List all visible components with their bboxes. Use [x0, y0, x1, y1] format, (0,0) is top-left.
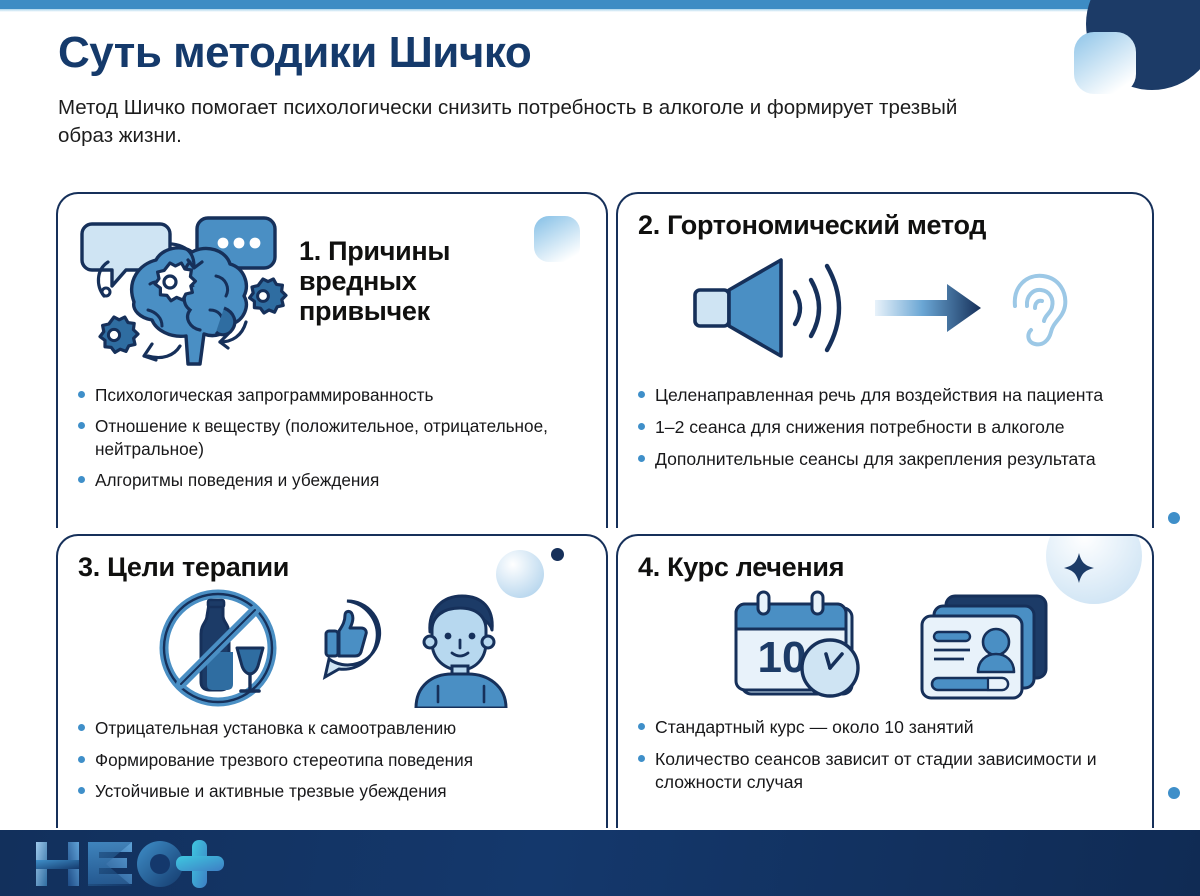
card-gortonomic-method[interactable]: 2. Гортономический метод: [616, 192, 1154, 528]
list-item: Алгоритмы поведения и убеждения: [78, 469, 586, 491]
page-title: Суть методики Шичко: [58, 30, 1058, 76]
list-item: Отношение к веществу (положительное, отр…: [78, 415, 586, 460]
list-item-label: 1–2 сеанса для снижения потребности в ал…: [655, 416, 1065, 439]
list-item-label: Целенаправленная речь для воздействия на…: [655, 384, 1103, 407]
card-therapy-goals[interactable]: 3. Цели терапии: [56, 534, 608, 828]
card-icon-row: [78, 586, 586, 711]
speaker-arrow-ear-icon: [685, 252, 1085, 362]
list-item-label: Количество сеансов зависит от стадии зав…: [655, 748, 1132, 794]
bullet-dot-icon: [78, 787, 85, 794]
list-item: 1–2 сеанса для снижения потребности в ал…: [638, 416, 1132, 439]
list-item-label: Устойчивые и активные трезвые убеждения: [95, 780, 447, 802]
list-item: Целенаправленная речь для воздействия на…: [638, 384, 1132, 407]
list-item-label: Стандартный курс — около 10 занятий: [655, 716, 974, 739]
bullet-dot-icon: [78, 391, 85, 398]
bullet-dot-icon: [638, 755, 645, 762]
id-cards-stack-icon: [916, 586, 1051, 706]
list-item-label: Дополнительные сеансы для закрепления ре…: [655, 448, 1096, 471]
card-bullet-list: Целенаправленная речь для воздействия на…: [638, 384, 1132, 471]
no-alcohol-icon: [151, 586, 286, 711]
card-corner-dot-decoration: [551, 548, 564, 561]
bullet-dot-icon: [78, 724, 85, 731]
top-accent-bar: [0, 0, 1200, 9]
bullet-dot-icon: [78, 476, 85, 483]
list-item-label: Отношение к веществу (положительное, отр…: [95, 415, 586, 460]
card-corner-circle-decoration: [496, 550, 544, 598]
header: Суть методики Шичко Метод Шичко помогает…: [58, 30, 1058, 151]
card-bullet-list: Психологическая запрограммированность От…: [78, 384, 586, 491]
card-icon-row: [638, 252, 1132, 362]
bullet-dot-icon: [78, 756, 85, 763]
list-item-label: Формирование трезвого стереотипа поведен…: [95, 749, 473, 771]
list-item: Отрицательная установка к самоотравлению: [78, 717, 586, 739]
sparkle-icon: [1062, 552, 1096, 586]
top-accent-bar-shadow: [0, 9, 1200, 12]
person-avatar-icon: [408, 590, 513, 708]
thumbs-up-bubble-icon: [312, 595, 382, 703]
list-item-label: Отрицательная установка к самоотравлению: [95, 717, 456, 739]
footer-bar: НЕО+: [0, 830, 1200, 896]
brand-logo: НЕО+: [34, 835, 254, 891]
accent-dot-decoration: [1168, 512, 1180, 524]
list-item-label: Алгоритмы поведения и убеждения: [95, 469, 379, 491]
calendar-day-label: 10: [757, 633, 806, 682]
card-title: 2. Гортономический метод: [638, 210, 1132, 240]
card-title: 1. Причины вредных привычек: [299, 210, 529, 327]
card-corner-square-decoration: [534, 216, 580, 262]
bullet-dot-icon: [638, 423, 645, 430]
list-item: Стандартный курс — около 10 занятий: [638, 716, 1132, 739]
accent-dot-decoration: [1168, 787, 1180, 799]
list-item: Устойчивые и активные трезвые убеждения: [78, 780, 586, 802]
bullet-dot-icon: [78, 422, 85, 429]
card-bullet-list: Стандартный курс — около 10 занятий Коли…: [638, 716, 1132, 794]
list-item: Формирование трезвого стереотипа поведен…: [78, 749, 586, 771]
bullet-dot-icon: [638, 723, 645, 730]
list-item-label: Психологическая запрограммированность: [95, 384, 434, 406]
card-treatment-course[interactable]: 4. Курс лечения 10: [616, 534, 1154, 828]
cards-grid: 1. Причины вредных привычек Психологичес…: [56, 192, 1154, 822]
card-icon-row: 10: [638, 586, 1132, 706]
list-item: Количество сеансов зависит от стадии зав…: [638, 748, 1132, 794]
page-subtitle: Метод Шичко помогает психологически сниз…: [58, 94, 958, 151]
top-right-rounded-square-decoration: [1074, 32, 1136, 94]
list-item: Дополнительные сеансы для закрепления ре…: [638, 448, 1132, 471]
card-causes-of-bad-habits[interactable]: 1. Причины вредных привычек Психологичес…: [56, 192, 608, 528]
calendar-clock-icon: 10: [720, 586, 870, 706]
card-header-row: 1. Причины вредных привычек: [78, 210, 586, 370]
bullet-dot-icon: [638, 455, 645, 462]
card-bullet-list: Отрицательная установка к самоотравлению…: [78, 717, 586, 802]
list-item: Психологическая запрограммированность: [78, 384, 586, 406]
brain-gears-speech-bubbles-icon: [78, 210, 293, 370]
bullet-dot-icon: [638, 391, 645, 398]
